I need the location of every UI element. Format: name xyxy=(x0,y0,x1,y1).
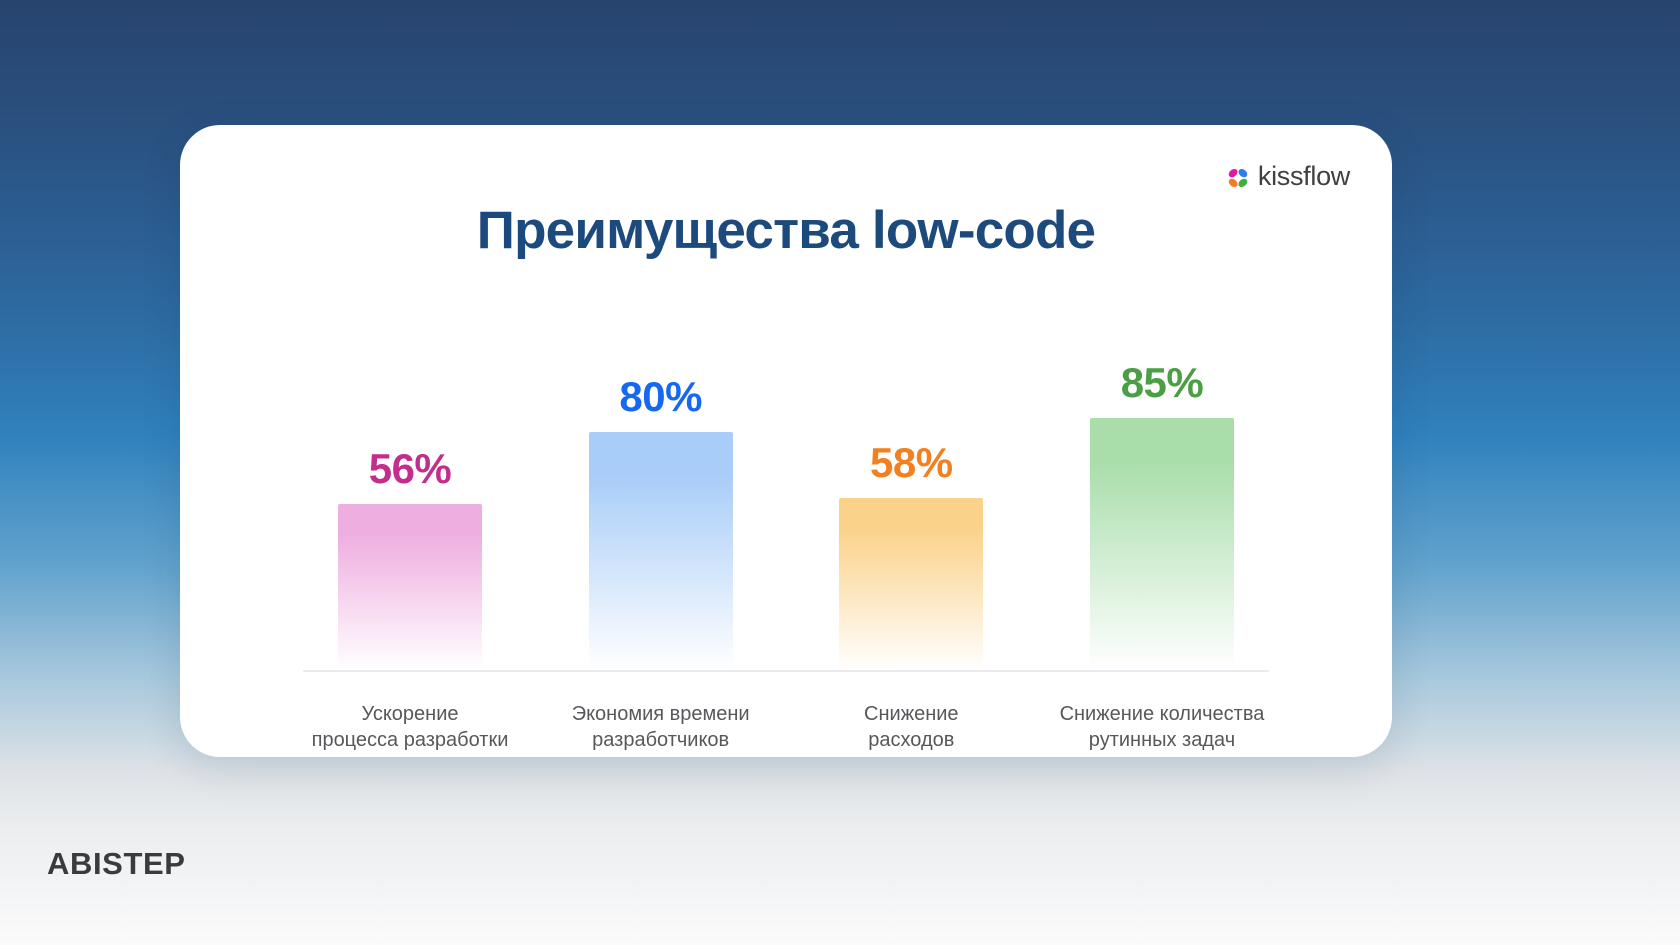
slide-canvas: kissflow Преимущества low-code 56% 80% 5… xyxy=(0,0,1680,945)
bar-group-1: 56% xyxy=(285,295,535,670)
bar-value-label-1: 56% xyxy=(369,448,452,490)
category-label-4: Снижение количества рутинных задач xyxy=(1037,702,1287,753)
chart-baseline xyxy=(303,670,1269,672)
kissflow-logo: kissflow xyxy=(1225,163,1350,192)
page-title: Преимущества low-code xyxy=(180,200,1392,261)
category-label-4-line-1: Снижение количества xyxy=(1037,702,1287,728)
category-label-4-line-2: рутинных задач xyxy=(1037,728,1287,754)
chart-card: kissflow Преимущества low-code 56% 80% 5… xyxy=(180,125,1392,757)
kissflow-wordmark: kissflow xyxy=(1258,163,1350,192)
category-label-3-line-2: расходов xyxy=(786,728,1036,754)
category-label-3: Снижение расходов xyxy=(786,702,1036,753)
bar-3 xyxy=(839,498,983,670)
bar-group-2: 80% xyxy=(536,295,786,670)
abistep-watermark: ABISTEP xyxy=(47,846,186,882)
category-label-1-line-1: Ускорение xyxy=(285,702,535,728)
kissflow-butterfly-icon xyxy=(1225,165,1251,191)
bar-value-label-4: 85% xyxy=(1121,362,1204,404)
category-label-2: Экономия времени разработчиков xyxy=(536,702,786,753)
bar-group-3: 58% xyxy=(786,295,1036,670)
category-label-1-line-2: процесса разработки xyxy=(285,728,535,754)
bar-value-label-3: 58% xyxy=(870,442,953,484)
category-label-2-line-1: Экономия времени xyxy=(536,702,786,728)
bar-group-4: 85% xyxy=(1037,295,1287,670)
category-label-2-line-2: разработчиков xyxy=(536,728,786,754)
category-label-1: Ускорение процесса разработки xyxy=(285,702,535,753)
bar-4 xyxy=(1090,418,1234,670)
chart-category-labels: Ускорение процесса разработки Экономия в… xyxy=(285,702,1287,753)
bar-2 xyxy=(589,432,733,670)
category-label-3-line-1: Снижение xyxy=(786,702,1036,728)
chart-plot-area: 56% 80% 58% 85% xyxy=(285,295,1287,670)
bar-value-label-2: 80% xyxy=(619,376,702,418)
bar-chart: 56% 80% 58% 85% У xyxy=(285,295,1287,725)
bar-1 xyxy=(338,504,482,670)
